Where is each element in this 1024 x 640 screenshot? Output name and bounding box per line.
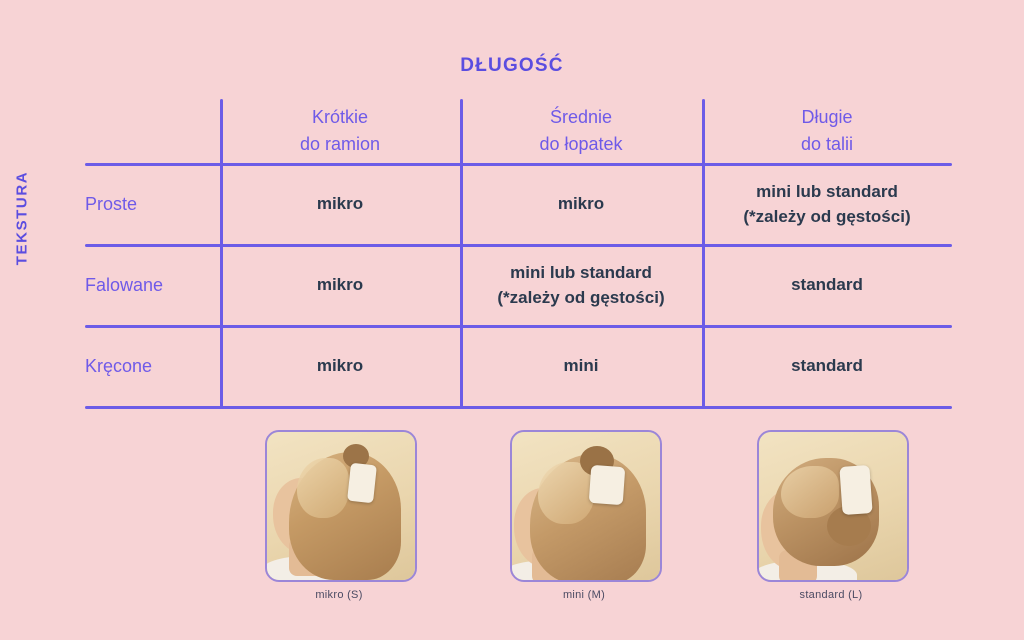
cell-proste-dlugie-line2: (*zależy od gęstości) [743,205,910,230]
photo-caption-mikro: mikro (S) [239,589,439,601]
row-label-proste-text: Proste [85,194,137,215]
row-label-falowane: Falowane [85,246,220,325]
column-header-medium: Średnie do łopatek [460,100,702,162]
row-axis-label: TEKSTURA [14,138,31,298]
photo-caption-mini: mini (M) [484,589,684,601]
photo-card-standard[interactable] [757,430,909,582]
row-label-proste: Proste [85,165,220,244]
column-header-short: Krótkie do ramion [220,100,460,162]
cell-proste-dlugie: mini lub standard (*zależy od gęstości) [702,165,952,244]
infographic-page: DŁUGOŚĆ TEKSTURA Krótkie do ramion Średn… [0,0,1024,640]
photo-card-mikro[interactable] [265,430,417,582]
hair-clip-medium [589,465,626,505]
cell-proste-srednie: mikro [460,165,702,244]
row-label-falowane-text: Falowane [85,275,163,296]
cell-krecone-srednie-line1: mini [564,354,599,379]
column-header-long: Długie do talii [702,100,952,162]
column-header-long-line1: Długie [801,104,852,131]
column-header-short-line2: do ramion [300,131,380,158]
cell-falowane-dlugie-line1: standard [791,273,863,298]
column-header-medium-line1: Średnie [550,104,612,131]
cell-falowane-srednie: mini lub standard (*zależy od gęstości) [460,246,702,325]
cell-proste-krotkie-line1: mikro [317,192,363,217]
row-label-krecone-text: Kręcone [85,356,152,377]
cell-falowane-dlugie: standard [702,246,952,325]
row-label-krecone: Kręcone [85,327,220,406]
column-header-long-line2: do talii [801,131,853,158]
hair-highlight [781,466,839,518]
cell-proste-krotkie: mikro [220,165,460,244]
cell-krecone-krotkie: mikro [220,327,460,406]
cell-proste-srednie-line1: mikro [558,192,604,217]
column-header-short-line1: Krótkie [312,104,368,131]
cell-krecone-dlugie-line1: standard [791,354,863,379]
hair-clip-large [839,465,872,515]
cell-proste-dlugie-line1: mini lub standard [756,180,898,205]
page-title: DŁUGOŚĆ [0,55,1024,77]
photo-mikro-image [267,432,415,580]
photo-mini-image [512,432,660,580]
photo-standard-image [759,432,907,580]
cell-falowane-srednie-line1: mini lub standard [510,261,652,286]
cell-krecone-krotkie-line1: mikro [317,354,363,379]
hair-clip-small [347,463,377,504]
cell-krecone-dlugie: standard [702,327,952,406]
photo-caption-standard: standard (L) [731,589,931,601]
cell-falowane-krotkie-line1: mikro [317,273,363,298]
grid-hline-row3 [85,406,952,409]
cell-falowane-krotkie: mikro [220,246,460,325]
cell-krecone-srednie: mini [460,327,702,406]
hair-highlight [297,458,349,518]
photo-card-mini[interactable] [510,430,662,582]
cell-falowane-srednie-line2: (*zależy od gęstości) [497,286,664,311]
column-header-medium-line2: do łopatek [539,131,622,158]
